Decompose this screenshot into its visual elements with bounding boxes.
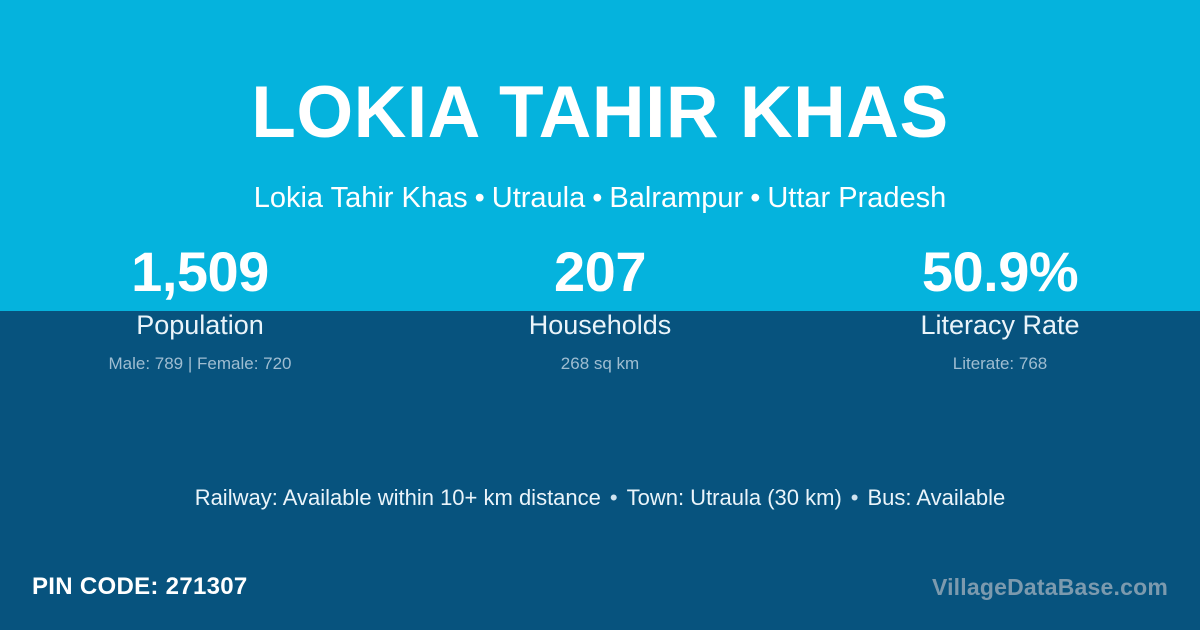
stat-sublabel: Literate: 768 [800,354,1200,374]
page-title: LOKIA TAHIR KHAS [0,76,1200,149]
stats-row: 1,509 Population Male: 789 | Female: 720… [0,243,1200,375]
breadcrumb-separator-icon: • [468,182,492,214]
brand-watermark: VillageDataBase.com [932,574,1168,602]
stat-label: Population [0,309,400,341]
stat-label: Households [400,309,800,341]
stat-value: 207 [400,243,800,302]
stat-literacy-rate: 50.9% Literacy Rate Literate: 768 [800,243,1200,375]
breadcrumb-district: Balrampur [609,182,743,214]
infra-town: Town: Utraula (30 km) [627,485,842,510]
stat-value: 1,509 [0,243,400,302]
pin-code: PIN CODE: 271307 [32,573,248,602]
breadcrumb-village: Lokia Tahir Khas [254,182,468,214]
stat-label: Literacy Rate [800,309,1200,341]
stat-population: 1,509 Population Male: 789 | Female: 720 [0,243,400,375]
infra-separator-icon: • [842,485,868,510]
infra-railway: Railway: Available within 10+ km distanc… [195,485,601,510]
breadcrumb-state: Uttar Pradesh [767,182,946,214]
breadcrumb-separator-icon: • [585,182,609,214]
breadcrumb-separator-icon: • [743,182,767,214]
stat-sublabel: Male: 789 | Female: 720 [0,354,400,374]
breadcrumb: Lokia Tahir Khas•Utraula•Balrampur•Uttar… [0,180,1200,218]
infra-bus: Bus: Available [867,485,1005,510]
infra-separator-icon: • [601,485,627,510]
infrastructure-line: Railway: Available within 10+ km distanc… [0,484,1200,513]
breadcrumb-block: Utraula [492,182,586,214]
village-info-card: LOKIA TAHIR KHAS Lokia Tahir Khas•Utraul… [0,0,1200,630]
stat-households: 207 Households 268 sq km [400,243,800,375]
stat-value: 50.9% [800,243,1200,302]
stat-sublabel: 268 sq km [400,354,800,374]
